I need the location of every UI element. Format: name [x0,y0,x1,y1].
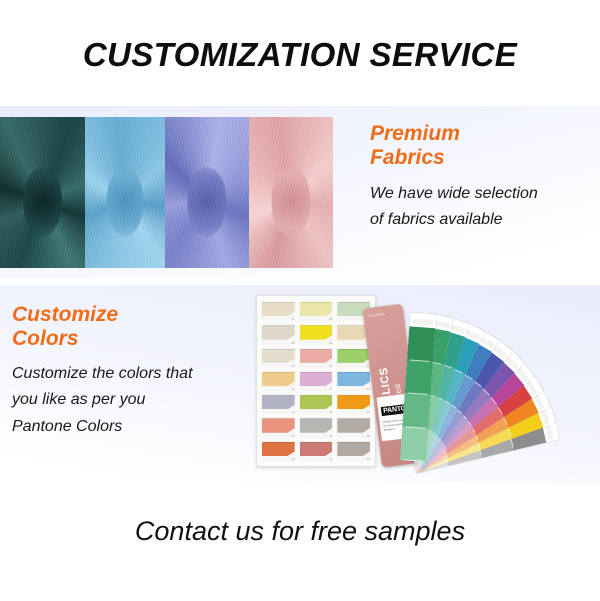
swatch-chip [300,372,333,386]
fabric-texture [85,117,165,268]
swatch-chip-cell: 02 [261,324,296,344]
swatch-chip [262,349,295,363]
fan-leaf-tab [412,319,434,326]
premium-fabrics-heading: Premium Fabrics [370,122,595,171]
premium-fabrics-text-block: Premium Fabrics We have wide selection o… [370,122,595,234]
swatch-chip-cell: 42 [336,441,371,461]
swatch-chip-cell: 03 [261,348,296,368]
swatch-chip [262,395,295,409]
swatch-chip-code: 10 [329,365,332,368]
fan-leaf-color-band [402,393,430,428]
periwinkle-fabric-swatch [165,117,249,268]
swatch-chip-code: 24 [367,411,370,414]
color-swatch-card: 0108150209160310171112231420241718054041… [256,295,376,467]
customize-colors-body-line2: you like as per you [12,387,262,413]
customize-colors-body: Customize the colors that you like as pe… [12,361,262,440]
swatch-chip-code: 42 [367,458,370,461]
swatch-chip [262,302,295,316]
swatch-chip [337,372,370,386]
swatch-chip-cell: 14 [261,394,296,414]
fabric-texture [0,117,85,268]
premium-fabrics-body-line1: We have wide selection [370,181,595,207]
swatch-chip-code: 18 [329,435,332,438]
premium-fabrics-heading-line1: Premium [370,122,595,146]
fabric-texture [249,117,333,268]
fabric-swatch-strip [0,117,333,268]
fabric-texture [165,117,249,268]
swatch-chip-cell: 40 [261,441,296,461]
swatch-chip-cell: 18 [299,417,334,437]
premium-fabrics-heading-line2: Fabrics [370,146,595,170]
swatch-chip [262,372,295,386]
fan-leaf-color-band [405,360,433,395]
swatch-chip-cell: 17 [261,417,296,437]
swatch-chip-code: 20 [329,411,332,414]
swatch-chip [262,418,295,432]
customize-colors-text-block: Customize Colors Customize the colors th… [12,303,262,440]
customize-colors-heading-line2: Colors [12,327,262,351]
customize-colors-heading-line1: Customize [12,303,262,327]
swatch-chip [262,442,295,456]
page-title-text: CUSTOMIZATION SERVICE [83,36,517,73]
footer-cta: Contact us for free samples [0,516,600,547]
swatch-chip-cell: 01 [261,301,296,321]
swatch-chip [300,325,333,339]
swatch-chip [300,349,333,363]
customize-colors-body-line1: Customize the colors that [12,361,262,387]
swatch-chip [300,395,333,409]
page-title: CUSTOMIZATION SERVICE [0,36,600,74]
light-blue-fabric-swatch [85,117,165,268]
blush-pink-fabric-swatch [249,117,333,268]
swatch-chip-code: 02 [292,342,295,345]
swatch-chip-cell: 41 [299,441,334,461]
customize-colors-body-line3: Pantone Colors [12,414,262,440]
swatch-chip-cell: 20 [299,394,334,414]
swatch-chip-code: 23 [367,388,370,391]
swatch-chip-code: 14 [292,411,295,414]
swatch-chip-cell: 24 [336,394,371,414]
premium-fabrics-section: Premium Fabrics We have wide selection o… [0,106,600,278]
swatch-chip-code: 12 [329,388,332,391]
swatch-chip-code: 41 [329,458,332,461]
swatch-chip-code: 17 [292,435,295,438]
pantone-fan-deck: GG1505A METALLICS Solid Coated PANTONE M… [382,287,596,475]
swatch-chip [337,418,370,432]
teal-green-fabric-swatch [0,117,85,268]
customization-service-banner: CUSTOMIZATION SERVICE Premium [0,0,600,601]
swatch-chip-cell: 10 [299,348,334,368]
swatch-chip-cell: 11 [261,371,296,391]
swatch-chip [262,325,295,339]
fan-leaf-color-band [407,326,435,361]
swatch-chip [300,442,333,456]
swatch-chip-code: 03 [292,365,295,368]
swatch-chip-cell: 23 [336,371,371,391]
swatch-chip-code: 01 [292,318,295,321]
swatch-chip-cell: 08 [299,301,334,321]
swatch-chip-code: 05 [367,435,370,438]
fan-leaf-color-band [400,427,428,462]
swatch-chip [300,302,333,316]
swatch-chip-code: 40 [292,458,295,461]
swatch-chip-cell: 05 [336,417,371,437]
customize-colors-section: Customize Colors Customize the colors th… [0,285,600,483]
swatch-chip-code: 11 [292,388,295,391]
swatch-chip [337,442,370,456]
swatch-chip [337,349,370,363]
premium-fabrics-body-line2: of fabrics available [370,207,595,233]
swatch-chip [300,418,333,432]
swatch-chip-code: 09 [329,342,332,345]
swatch-chip-cell: 12 [299,371,334,391]
footer-cta-text: Contact us for free samples [135,516,465,546]
premium-fabrics-body: We have wide selection of fabrics availa… [370,181,595,234]
swatch-chip-code: 08 [329,318,332,321]
swatch-chip-cell: 17 [336,348,371,368]
swatch-chip [337,395,370,409]
swatch-chip-cell: 09 [299,324,334,344]
customize-colors-heading: Customize Colors [12,303,262,352]
